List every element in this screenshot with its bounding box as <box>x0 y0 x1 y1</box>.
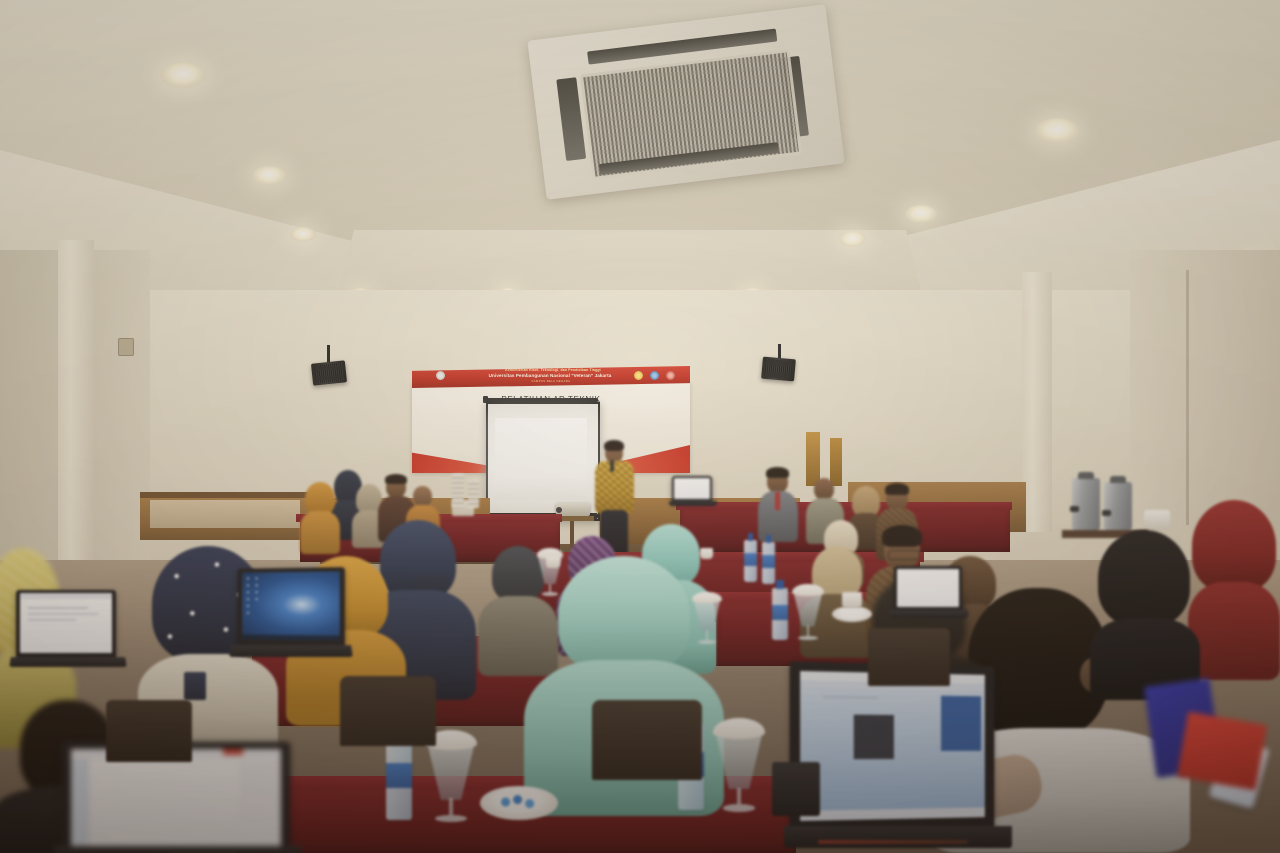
laptop-windows-desktop[interactable] <box>236 568 348 666</box>
saucer[interactable] <box>832 606 872 622</box>
beverage-urn <box>1104 482 1132 530</box>
coffee-cup[interactable] <box>546 556 560 568</box>
downlight <box>160 62 206 88</box>
goblet-bowl <box>716 735 762 790</box>
hair <box>766 467 789 478</box>
goblet-foot <box>698 640 716 644</box>
laptop-base <box>784 826 1012 848</box>
urn-tap <box>1102 510 1111 516</box>
bottle-label <box>772 605 788 621</box>
urn-lid <box>1078 472 1094 479</box>
bottle-cap <box>748 533 754 541</box>
laptop-base <box>9 657 127 667</box>
participant-right-red-hijab <box>1188 500 1280 680</box>
laptop-mid-right[interactable] <box>894 566 966 624</box>
participant-right-dark-hijab <box>1090 530 1200 700</box>
downlight <box>252 166 286 185</box>
eyeglasses <box>414 578 446 587</box>
cup-stack <box>1144 510 1170 530</box>
candies <box>496 794 544 810</box>
goblet-bowl <box>428 747 474 800</box>
covered-goblet[interactable] <box>794 584 822 640</box>
hair <box>882 525 922 547</box>
beverage-urn <box>1072 478 1100 530</box>
goblet-stem <box>807 625 810 635</box>
banner-campus-line: KAMPUS BELA NEGARA <box>482 380 620 383</box>
laptop-screen[interactable] <box>897 569 959 607</box>
keyboard-backlight <box>818 840 968 844</box>
candy-dish[interactable] <box>480 786 558 820</box>
doc-line <box>28 607 88 609</box>
doc-line <box>28 613 98 615</box>
presenter-hair <box>604 440 624 451</box>
hijab-black <box>1098 530 1190 626</box>
bottle-label <box>386 763 412 788</box>
head <box>413 486 432 507</box>
wall-pillar-right <box>1022 272 1052 532</box>
laptop-screen[interactable] <box>20 593 112 653</box>
covered-goblet[interactable] <box>716 718 762 812</box>
chair[interactable] <box>340 676 436 746</box>
goblet-foot <box>798 636 818 640</box>
bottle-cap <box>776 580 783 589</box>
goblet-cover <box>713 718 765 739</box>
goblet-stem <box>737 788 742 805</box>
app-right-panel <box>941 696 981 751</box>
water-bottle[interactable] <box>762 542 775 584</box>
hair <box>885 483 909 495</box>
goblet-stem <box>549 584 551 593</box>
right-speaker <box>761 357 796 382</box>
app-line <box>823 696 878 699</box>
laptop-base <box>669 501 717 506</box>
downlight <box>1035 118 1079 143</box>
covered-goblet[interactable] <box>694 592 720 644</box>
doc-toolbar <box>20 593 112 599</box>
projected-image-area <box>495 418 587 500</box>
wall-niche-left <box>150 500 300 528</box>
water-bottle[interactable] <box>772 588 788 640</box>
speaker-grille <box>314 363 344 384</box>
black-device[interactable] <box>772 762 820 816</box>
goblet-foot <box>542 592 559 596</box>
hijab-red <box>1192 500 1276 592</box>
goblet-cover <box>792 584 823 596</box>
participant-back-left-2 <box>300 482 340 554</box>
chair[interactable] <box>592 700 702 780</box>
participant-back-right-1 <box>758 470 798 542</box>
laptop-back-row[interactable] <box>672 476 714 510</box>
laptop-bright-document[interactable] <box>16 590 120 674</box>
water-bottle[interactable] <box>386 736 412 820</box>
hair <box>385 474 407 484</box>
doc-pane <box>239 761 281 821</box>
urn-tap <box>1070 506 1079 512</box>
red-folder <box>1177 712 1267 791</box>
wall-shelf-left <box>140 492 312 498</box>
coffee-cup[interactable] <box>700 548 713 559</box>
eyeglasses <box>888 550 920 560</box>
torso <box>300 511 340 554</box>
wall-pillar-left <box>58 240 94 570</box>
coffee-cup[interactable] <box>842 592 862 608</box>
goblet-cover <box>692 592 721 603</box>
banner-university-line: Universitas Pembangunan Nasional "Vetera… <box>454 373 646 378</box>
laptop-screen[interactable] <box>71 749 281 847</box>
goblet-bowl <box>794 594 822 626</box>
water-bottle[interactable] <box>744 540 757 582</box>
left-speaker <box>311 360 347 385</box>
laptop-screen[interactable] <box>674 478 710 499</box>
bottle-label <box>744 553 757 566</box>
canvas-object <box>854 715 894 760</box>
doc-ribbon-accent <box>223 749 243 755</box>
table-top-far-right <box>676 502 1012 510</box>
wall-control-box[interactable] <box>118 338 134 356</box>
name-badge <box>184 672 206 700</box>
laptop-base <box>890 610 968 618</box>
goblet-foot <box>723 804 755 812</box>
goblet-stem <box>706 630 709 639</box>
goblet-bowl <box>694 601 720 631</box>
chair[interactable] <box>868 628 950 686</box>
speaker-grille <box>764 359 792 379</box>
goblet-foot <box>435 815 467 822</box>
projector-lens <box>556 507 562 513</box>
presenter-microphone <box>610 460 614 472</box>
table-centerpiece <box>452 474 464 508</box>
laptop-screen[interactable] <box>242 571 340 640</box>
downlight <box>905 205 937 223</box>
table-centerpiece <box>468 480 479 508</box>
laptop-base <box>229 645 353 657</box>
hijab-mint-large <box>558 556 690 674</box>
necktie <box>775 492 780 510</box>
banner-logo-left <box>436 371 445 380</box>
doc-line <box>28 619 76 621</box>
banner-logo-red <box>666 371 675 380</box>
head <box>814 478 834 500</box>
downlight <box>290 227 316 242</box>
laptop-drawing-app[interactable] <box>792 664 1022 853</box>
bottle-label <box>762 555 775 568</box>
laptop-base <box>54 846 302 853</box>
torso-red <box>1188 582 1280 680</box>
presenter-batik-shirt <box>595 461 634 513</box>
chair[interactable] <box>106 700 192 762</box>
speaker-mount-rod-left <box>327 345 330 363</box>
banner-logo-blue <box>650 371 659 380</box>
laptop-screen[interactable] <box>800 671 985 821</box>
banner-logo-gold <box>634 371 643 380</box>
goblet-stem <box>449 798 454 815</box>
seminar-room-photograph: PELATIHAN AR TEKNIK "PENINGKA E DOSEN UP… <box>0 0 1280 853</box>
doc-sidebar <box>71 759 89 847</box>
urn-lid <box>1110 476 1126 483</box>
downlight <box>839 231 866 247</box>
bottle-cap <box>766 535 772 543</box>
wall-trim-right <box>1186 270 1189 525</box>
